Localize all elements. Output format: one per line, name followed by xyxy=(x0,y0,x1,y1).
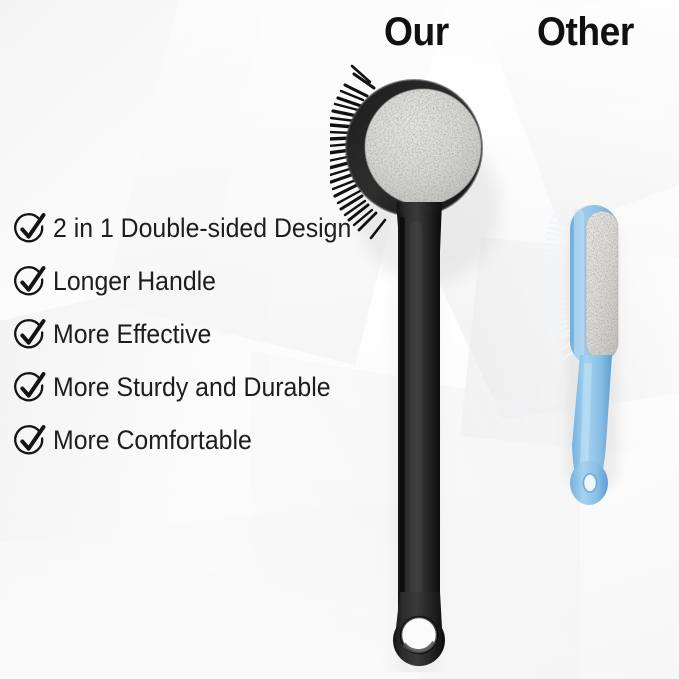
comparison-infographic: Our Other 2 in 1 Double-sided Design Lon… xyxy=(0,0,679,679)
check-circle-icon xyxy=(12,317,48,353)
handle-edge-shade xyxy=(400,217,405,617)
pumice-stone-other xyxy=(586,211,618,359)
column-heading-other: Other xyxy=(537,12,634,52)
handle-highlight xyxy=(410,222,422,617)
check-circle-icon xyxy=(12,423,48,459)
feature-label: Longer Handle xyxy=(53,268,216,295)
feature-label: More Comfortable xyxy=(53,427,252,454)
check-circle-icon xyxy=(12,211,48,247)
product-image-other xyxy=(540,195,650,515)
check-circle-icon xyxy=(12,264,48,300)
feature-label: More Effective xyxy=(53,321,211,348)
feature-label: More Sturdy and Durable xyxy=(53,374,331,401)
column-heading-ours: Our xyxy=(384,12,449,52)
feature-item: More Comfortable xyxy=(12,414,382,467)
feature-list: 2 in 1 Double-sided Design Longer Handle… xyxy=(12,202,382,467)
head-highlight xyxy=(574,209,584,359)
check-circle-icon xyxy=(12,370,48,406)
product-image-ours xyxy=(330,52,515,672)
feature-item: Longer Handle xyxy=(12,255,382,308)
feature-item: More Sturdy and Durable xyxy=(12,361,382,414)
feature-item: More Effective xyxy=(12,308,382,361)
feature-label: 2 in 1 Double-sided Design xyxy=(53,215,351,242)
feature-item: 2 in 1 Double-sided Design xyxy=(12,202,382,255)
